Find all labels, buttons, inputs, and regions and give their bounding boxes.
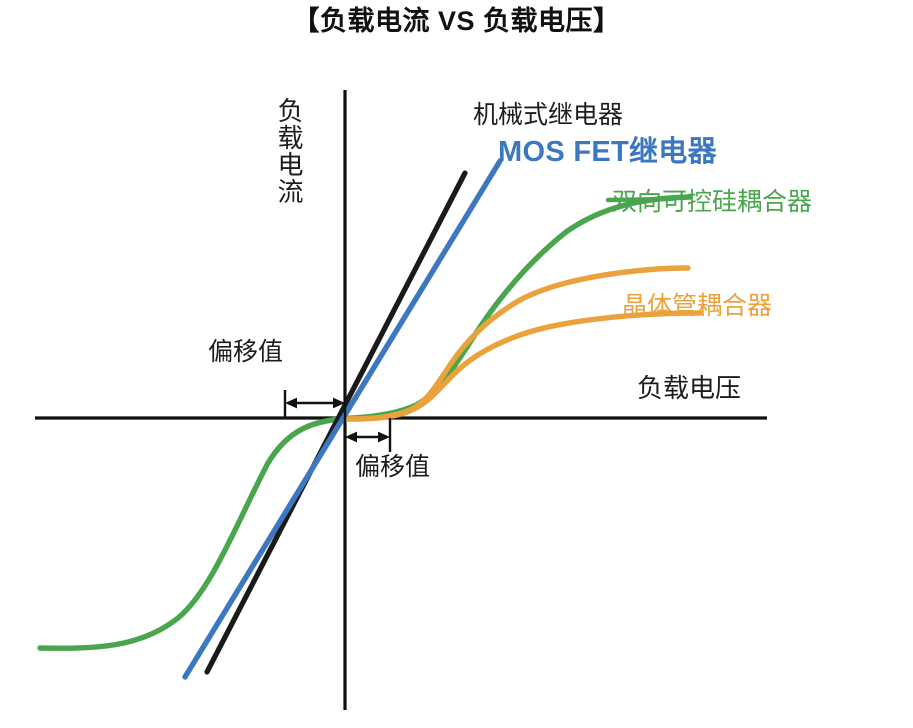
chart-plot-area [0, 0, 913, 728]
chart-page: 【负载电流 VS 负载电压】 [0, 0, 913, 728]
annotation-label-offset-left: 偏移值 [208, 340, 283, 365]
series-label-mosfet-relay: MOS FET继电器 [498, 138, 717, 167]
series-label-triac-coupler: 双向可控硅耦合器 [612, 190, 812, 215]
series-label-transistor-coupler: 晶体管耦合器 [622, 294, 772, 319]
annotation-offset-left [285, 390, 345, 418]
offset-right-arrowhead-right [378, 432, 390, 443]
offset-left-arrowhead-left [285, 398, 297, 409]
series-line-triac-coupler [40, 197, 690, 648]
annotation-label-offset-right: 偏移值 [355, 455, 430, 480]
series-line-mechanical-relay [207, 173, 465, 672]
offset-right-arrowhead-left [345, 432, 357, 443]
x-axis-label: 负载电压 [637, 375, 741, 401]
series-label-mechanical-relay: 机械式继电器 [473, 103, 623, 128]
y-axis-label: 负载电流 [276, 97, 302, 205]
